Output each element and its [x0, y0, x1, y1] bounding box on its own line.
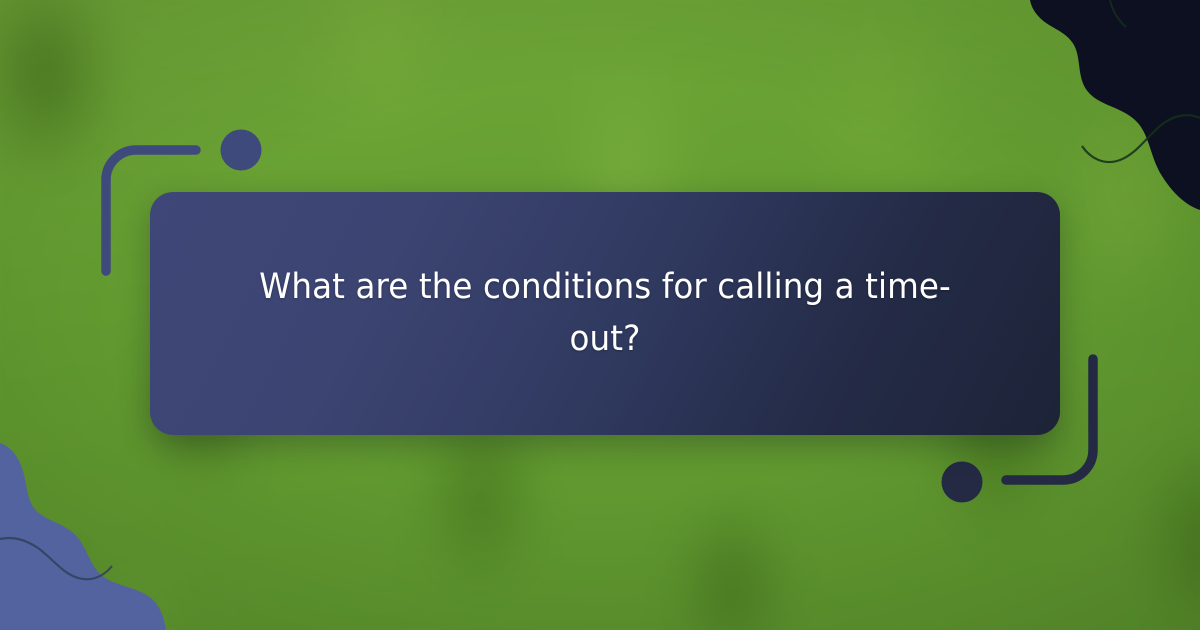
question-text: What are the conditions for calling a ti…: [247, 262, 963, 364]
question-card: What are the conditions for calling a ti…: [150, 192, 1060, 435]
bottom-right-accent-dot: [942, 462, 983, 503]
question-card-graphic: What are the conditions for calling a ti…: [0, 0, 1200, 630]
top-left-accent-dot: [221, 130, 262, 171]
